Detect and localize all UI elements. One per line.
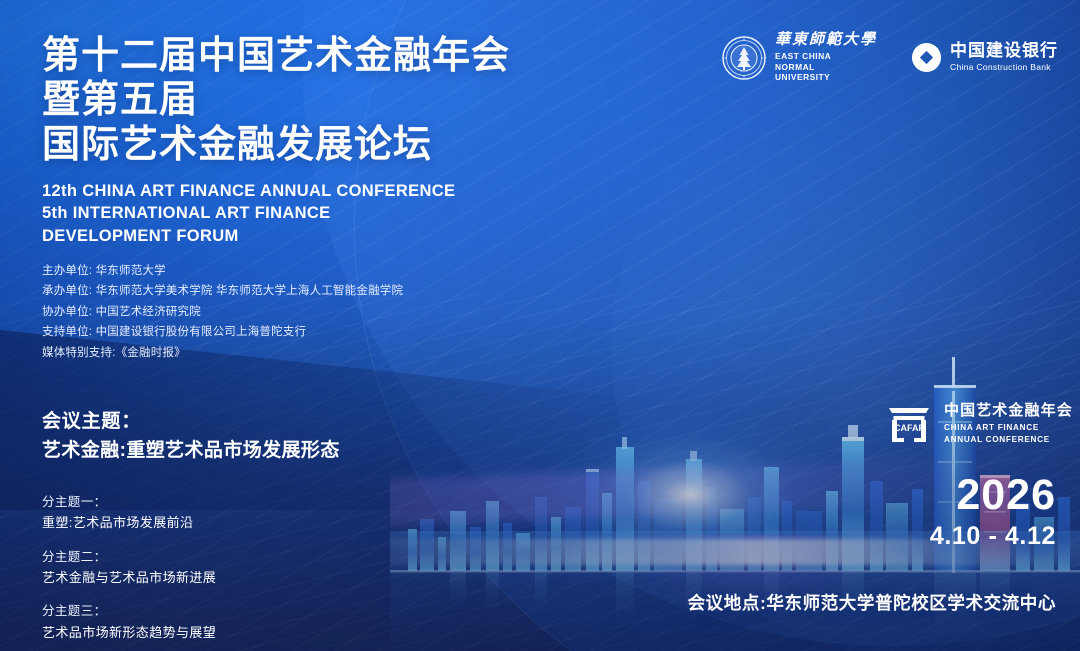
organizer-line: 协办单位: 中国艺术经济研究院 bbox=[42, 302, 682, 322]
venue-text: 会议地点:华东师范大学普陀校区学术交流中心 bbox=[688, 590, 1056, 615]
subtheme-item: 分主题三： 艺术品市场新形态趋势与展望 bbox=[42, 601, 462, 643]
cafaf-name-cn: 中国艺术金融年会 bbox=[944, 403, 1073, 420]
conference-poster: 第十二届中国艺术金融年会 暨第五届 国际艺术金融发展论坛 12th CHINA … bbox=[0, 0, 1080, 651]
organizer-line: 主办单位: 华东师范大学 bbox=[42, 261, 682, 281]
ccb-name-cn: 中国建设银行 bbox=[950, 42, 1058, 61]
sponsor-logo-row: 華東師範大學 EAST CHINA NORMAL UNIVERSITY 中国建设… bbox=[722, 32, 1058, 83]
date-range: 4.10 - 4.12 bbox=[930, 524, 1056, 549]
subtheme-label: 分主题二： bbox=[42, 547, 462, 569]
cafaf-badge: CAFAF 中国艺术金融年会 CHINA ART FINANCE ANNUAL … bbox=[884, 399, 1073, 449]
ecnu-name-en-line-1: EAST CHINA NORMAL bbox=[775, 51, 867, 73]
subtheme-item: 分主题一： 重塑:艺术品市场发展前沿 bbox=[42, 492, 462, 534]
ecnu-wordmark: 華東師範大學 EAST CHINA NORMAL UNIVERSITY bbox=[775, 32, 877, 83]
ecnu-name-en-line-2: UNIVERSITY bbox=[775, 72, 867, 83]
ecnu-name-cn: 華東師範大學 bbox=[775, 32, 877, 49]
organizer-list: 主办单位: 华东师范大学 承办单位: 华东师范大学美术学院 华东师范大学上海人工… bbox=[42, 261, 682, 363]
organizer-line: 支持单位: 中国建设银行股份有限公司上海普陀支行 bbox=[42, 322, 682, 342]
subtheme-label: 分主题一： bbox=[42, 492, 462, 514]
date-block: 2026 4.10 - 4.12 bbox=[930, 474, 1056, 549]
date-year: 2026 bbox=[930, 474, 1056, 517]
subtheme-item: 分主题二： 艺术金融与艺术品市场新进展 bbox=[42, 547, 462, 589]
logo-ecnu: 華東師範大學 EAST CHINA NORMAL UNIVERSITY bbox=[722, 32, 877, 83]
subtheme-text: 艺术金融与艺术品市场新进展 bbox=[42, 568, 462, 588]
title-en-line-3: DEVELOPMENT FORUM bbox=[42, 225, 682, 247]
subtheme-label: 分主题三： bbox=[42, 601, 462, 623]
organizer-line: 媒体特别支持:《金融时报》 bbox=[42, 343, 682, 363]
theme-block: 会议主题： 艺术金融:重塑艺术品市场发展形态 分主题一： 重塑:艺术品市场发展前… bbox=[42, 408, 462, 643]
organizer-line: 承办单位: 华东师范大学美术学院 华东师范大学上海人工智能金融学院 bbox=[42, 281, 682, 301]
poster-title-block: 第十二届中国艺术金融年会 暨第五届 国际艺术金融发展论坛 12th CHINA … bbox=[42, 34, 682, 363]
cafaf-wordmark: 中国艺术金融年会 CHINA ART FINANCE ANNUAL CONFER… bbox=[944, 403, 1073, 446]
ecnu-name-en: EAST CHINA NORMAL UNIVERSITY bbox=[775, 51, 867, 83]
title-en-line-1: 12th CHINA ART FINANCE ANNUAL CONFERENCE bbox=[42, 180, 682, 202]
title-cn-line-1: 第十二届中国艺术金融年会 bbox=[42, 34, 682, 78]
subtheme-text: 艺术品市场新形态趋势与展望 bbox=[42, 623, 462, 643]
logo-ccb: 中国建设银行 China Construction Bank bbox=[911, 42, 1058, 73]
cafaf-gate-icon: CAFAF bbox=[884, 399, 934, 449]
title-cn-line-3: 国际艺术金融发展论坛 bbox=[42, 123, 682, 167]
cafaf-name-en: CHINA ART FINANCE ANNUAL CONFERENCE bbox=[944, 422, 1073, 445]
cafaf-name-en-line-2: ANNUAL CONFERENCE bbox=[944, 434, 1073, 446]
cafaf-name-en-line-1: CHINA ART FINANCE bbox=[944, 422, 1073, 434]
theme-main-text: 艺术金融:重塑艺术品市场发展形态 bbox=[42, 437, 462, 466]
ecnu-seal-icon bbox=[722, 36, 766, 80]
ccb-name-en: China Construction Bank bbox=[950, 63, 1058, 72]
subtheme-list: 分主题一： 重塑:艺术品市场发展前沿 分主题二： 艺术金融与艺术品市场新进展 分… bbox=[42, 492, 462, 643]
cafaf-mark-letters: CAFAF bbox=[894, 423, 924, 433]
theme-label: 会议主题： bbox=[42, 408, 462, 437]
title-cn-line-2: 暨第五届 bbox=[42, 78, 682, 122]
ccb-mark-icon bbox=[911, 42, 942, 73]
ccb-wordmark: 中国建设银行 China Construction Bank bbox=[950, 42, 1058, 72]
subtheme-text: 重塑:艺术品市场发展前沿 bbox=[42, 513, 462, 533]
title-en-block: 12th CHINA ART FINANCE ANNUAL CONFERENCE… bbox=[42, 180, 682, 246]
title-en-line-2: 5th INTERNATIONAL ART FINANCE bbox=[42, 202, 682, 224]
